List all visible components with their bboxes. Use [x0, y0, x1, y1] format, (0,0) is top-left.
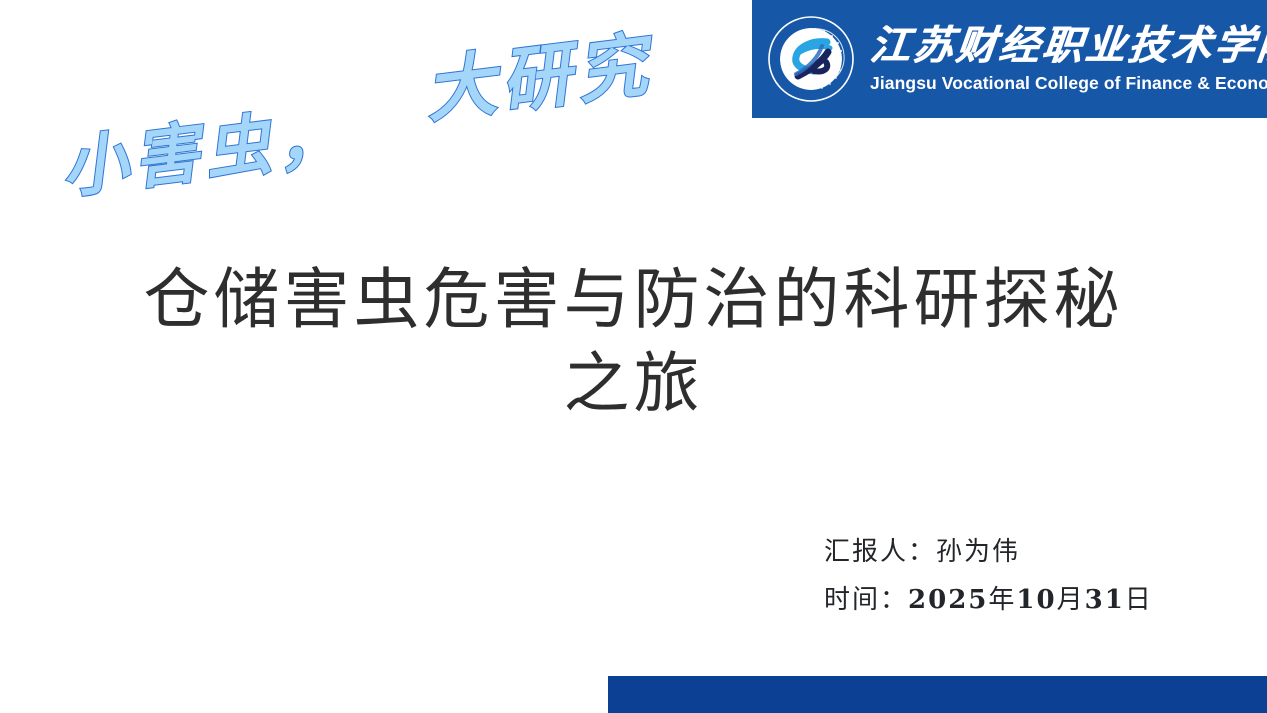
date-label: 时间： — [824, 585, 908, 615]
presenter-info: 汇报人：孙为伟 时间：2025年10月31日 — [824, 528, 1153, 624]
decorative-subtitle: 小害虫， 大研究 — [55, 20, 745, 205]
page-title-line-1: 仓储害虫危害与防治的科研探秘 — [0, 258, 1267, 342]
college-wordmark: 江苏财经职业技术学院 Jiangsu Vocational College of… — [870, 25, 1267, 94]
presenter-name: 孙为伟 — [936, 537, 1020, 567]
subtitle-part-1: 小害虫， — [55, 81, 353, 211]
date-month: 10 — [1016, 585, 1056, 615]
presenter-row: 汇报人：孙为伟 — [824, 528, 1153, 576]
presenter-label: 汇报人： — [824, 537, 936, 567]
page-title: 仓储害虫危害与防治的科研探秘 之旅 — [0, 258, 1267, 427]
college-logo-banner: 江苏财经职业技术学院 Jiangsu Vocational College of… — [752, 0, 1267, 118]
date-day: 31 — [1085, 585, 1125, 615]
page-title-line-2: 之旅 — [0, 342, 1267, 426]
subtitle-part-2: 大研究 — [419, 9, 658, 137]
college-seal-icon — [764, 12, 858, 106]
campus-lakeside-photo — [0, 452, 612, 713]
bottom-accent-bar — [608, 676, 1267, 713]
presentation-slide: 江苏财经职业技术学院 Jiangsu Vocational College of… — [0, 0, 1267, 713]
college-name-en: Jiangsu Vocational College of Finance & … — [870, 73, 1267, 94]
college-name-cn: 江苏财经职业技术学院 — [868, 25, 1267, 67]
date-day-unit: 日 — [1125, 585, 1153, 615]
date-month-unit: 月 — [1057, 585, 1085, 615]
date-year: 2025 — [908, 585, 988, 615]
date-year-unit: 年 — [988, 585, 1016, 615]
date-row: 时间：2025年10月31日 — [824, 576, 1153, 624]
